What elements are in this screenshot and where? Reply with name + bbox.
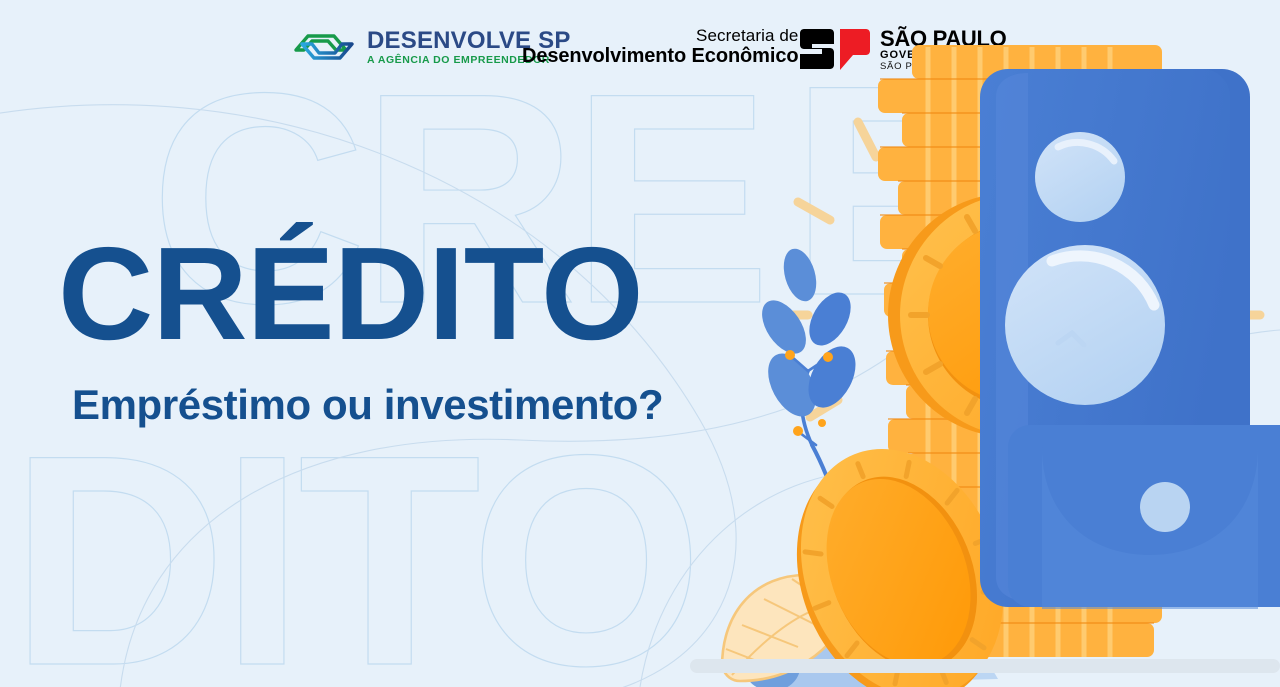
page-title: CRÉDITO (58, 228, 643, 360)
finance-illustration (680, 27, 1280, 687)
hexagon-arrow-icon (292, 28, 358, 66)
page-subtitle: Empréstimo ou investimento? (72, 384, 663, 426)
ground-shelf (690, 659, 1280, 673)
banner-canvas: CRE DITO ED DESEN (0, 0, 1280, 687)
money-box-icon (980, 69, 1280, 609)
